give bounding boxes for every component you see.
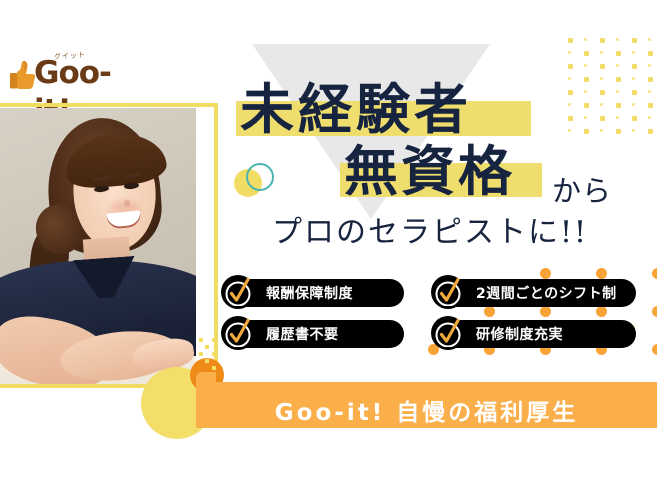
headline-line2: 無資格 bbox=[344, 144, 515, 198]
fleck-decoration bbox=[212, 366, 216, 370]
fleck-decoration bbox=[212, 338, 216, 342]
photo-frame bbox=[0, 103, 218, 388]
banner-advertisement: グイット Goo-it! 未経験者 無資格 から プロのセラピストに!! bbox=[0, 0, 657, 484]
brand-logo[interactable]: グイット Goo-it! bbox=[10, 52, 125, 94]
fleck-decoration bbox=[199, 338, 203, 342]
feature-badge-biweekly-shift[interactable]: 2週間ごとのシフト制 bbox=[436, 279, 636, 307]
badge-label: 報酬保障制度 bbox=[266, 283, 353, 303]
check-circle-icon bbox=[431, 316, 465, 350]
check-circle-icon bbox=[221, 275, 255, 309]
headline-line2-suffix: から bbox=[552, 168, 612, 210]
check-circle-icon bbox=[221, 316, 255, 350]
badge-label: 履歴書不要 bbox=[266, 324, 339, 344]
check-circle-icon bbox=[431, 275, 465, 309]
fleck-decoration bbox=[205, 359, 209, 363]
badge-label: 2週間ごとのシフト制 bbox=[476, 283, 617, 303]
feature-badge-no-resume[interactable]: 履歴書不要 bbox=[226, 320, 404, 348]
circle-teal-outline-decoration bbox=[246, 163, 274, 191]
feature-badge-training-program[interactable]: 研修制度充実 bbox=[436, 320, 636, 348]
photo-frame-border bbox=[0, 103, 218, 388]
headline-line3: プロのセラピストに!! bbox=[272, 216, 588, 250]
fleck-decoration bbox=[212, 352, 216, 356]
fleck-decoration bbox=[199, 352, 203, 356]
dot-grid-decoration bbox=[568, 38, 657, 140]
benefits-banner-text: Goo-it! 自慢の福利厚生 bbox=[196, 393, 657, 427]
headline-line1: 未経験者 bbox=[240, 82, 472, 136]
badge-label: 研修制度充実 bbox=[476, 324, 563, 344]
benefits-banner[interactable]: Goo-it! 自慢の福利厚生 bbox=[196, 382, 657, 428]
feature-badge-reward-guarantee[interactable]: 報酬保障制度 bbox=[226, 279, 404, 307]
fleck-decoration bbox=[205, 345, 209, 349]
thumbs-up-icon bbox=[10, 59, 36, 89]
